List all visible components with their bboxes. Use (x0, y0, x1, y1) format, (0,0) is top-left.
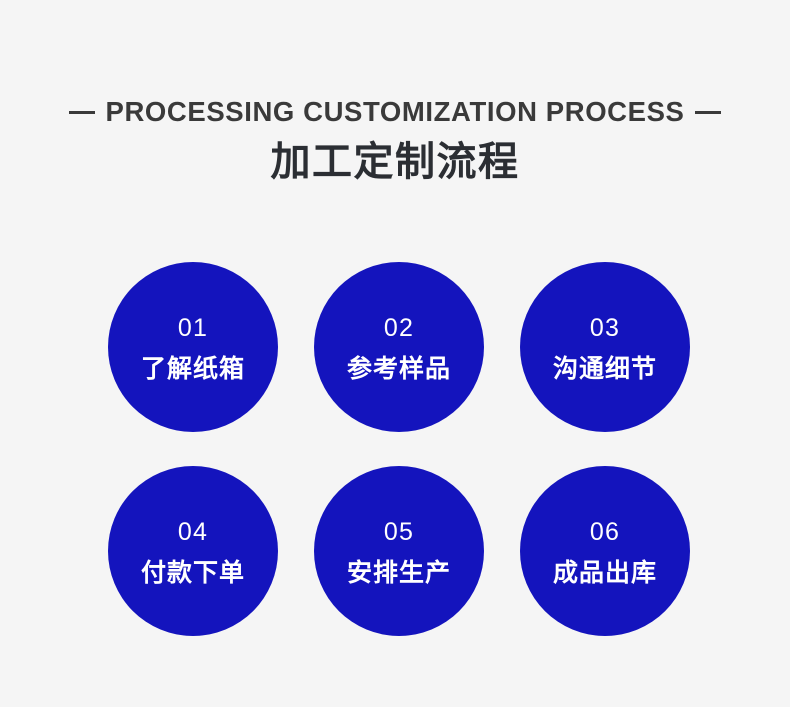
page-title: 加工定制流程 (0, 139, 790, 185)
step-label: 成品出库 (553, 561, 657, 586)
process-steps-grid: 01 了解纸箱 02 参考样品 03 沟通细节 04 付款下单 05 安排生产 … (108, 262, 690, 636)
dash-left-icon (69, 111, 95, 114)
process-step-04: 04 付款下单 (108, 466, 278, 636)
step-number: 03 (590, 316, 620, 341)
processing-customization-process-banner: PROCESSING CUSTOMIZATION PROCESS 加工定制流程 … (0, 0, 790, 707)
step-label: 沟通细节 (553, 357, 657, 382)
step-label: 安排生产 (347, 561, 451, 586)
step-label: 付款下单 (141, 561, 245, 586)
process-step-03: 03 沟通细节 (520, 262, 690, 432)
process-step-01: 01 了解纸箱 (108, 262, 278, 432)
process-step-06: 06 成品出库 (520, 466, 690, 636)
dash-right-icon (695, 111, 721, 114)
step-label: 参考样品 (347, 357, 451, 382)
eyebrow-heading: PROCESSING CUSTOMIZATION PROCESS (0, 98, 790, 127)
page-header: PROCESSING CUSTOMIZATION PROCESS 加工定制流程 (0, 98, 790, 185)
process-step-05: 05 安排生产 (314, 466, 484, 636)
step-number: 06 (590, 520, 620, 545)
step-number: 04 (178, 520, 208, 545)
step-number: 01 (178, 316, 208, 341)
step-label: 了解纸箱 (141, 357, 245, 382)
eyebrow-heading-text: PROCESSING CUSTOMIZATION PROCESS (106, 98, 685, 127)
step-number: 02 (384, 316, 414, 341)
process-step-02: 02 参考样品 (314, 262, 484, 432)
step-number: 05 (384, 520, 414, 545)
